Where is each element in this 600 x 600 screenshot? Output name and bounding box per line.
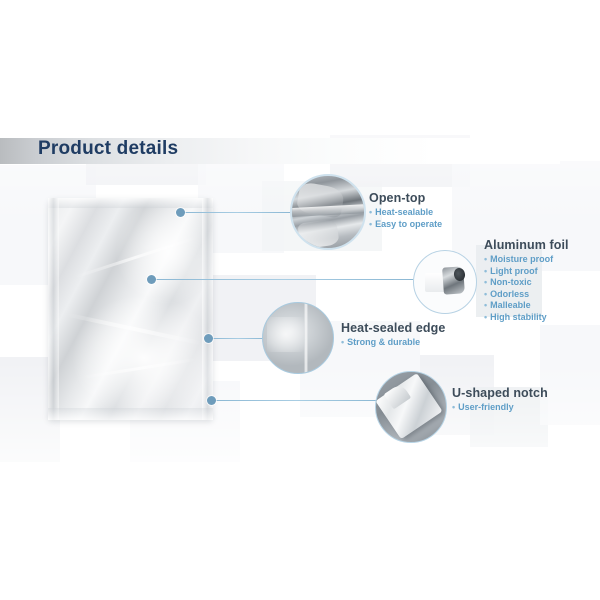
callout-features-heat-sealed-edge: Strong & durable [341,337,445,349]
callout-features-aluminum-foil: Moisture proof Light proof Non-toxic Odo… [484,254,569,323]
inset-u-shaped-notch [375,371,447,443]
inset-aluminum-foil-roll [413,250,477,314]
feature-item: Non-toxic [484,277,569,289]
feature-item: Heat-sealable [369,207,442,219]
notch-pouch-corner [376,373,444,439]
feature-item: Easy to operate [369,219,442,231]
callout-u-shaped-notch: U-shaped notch User-friendly [452,386,548,414]
callout-title-u-shaped-notch: U-shaped notch [452,386,548,400]
callout-title-heat-sealed-edge: Heat-sealed edge [341,321,445,335]
feature-item: High stability [484,312,569,324]
seal-sheen [267,317,303,352]
feature-item: Strong & durable [341,337,445,349]
pouch-left-seal [48,198,59,420]
pouch-top-seal [48,198,213,208]
callout-heat-sealed-edge: Heat-sealed edge Strong & durable [341,321,445,349]
seal-edge-line [304,302,309,374]
feature-item: Malleable [484,300,569,312]
foil-lower-fold [298,218,340,249]
feature-item: Odorless [484,289,569,301]
pouch-right-seal [202,198,213,420]
connector-dot-open-top [176,208,185,217]
connector-line-u-notch [215,400,377,401]
connector-dot-sealed-edge [204,334,213,343]
infographic-content-band: Open-top Heat-sealable Easy to operate A… [0,125,600,462]
callout-aluminum-foil: Aluminum foil Moisture proof Light proof… [484,238,569,323]
page-title: Product details [38,138,178,160]
inset-open-top-closeup [290,174,366,250]
inset-heat-sealed-edge [262,302,334,374]
connector-line-sealed-edge [212,338,264,339]
connector-line-open-top [184,212,290,213]
connector-line-aluminum-foil [155,279,413,280]
product-pouch-image [48,198,213,420]
feature-item: Moisture proof [484,254,569,266]
callout-title-aluminum-foil: Aluminum foil [484,238,569,252]
pouch-crease [74,236,197,279]
pouch-crease [81,358,196,379]
feature-item: User-friendly [452,402,548,414]
callout-open-top: Open-top Heat-sealable Easy to operate [369,191,442,230]
connector-dot-aluminum-foil [147,275,156,284]
pouch-bottom-seal [48,408,213,420]
connector-dot-u-notch [207,396,216,405]
callout-features-open-top: Heat-sealable Easy to operate [369,207,442,230]
callout-features-u-shaped-notch: User-friendly [452,402,548,414]
callout-title-open-top: Open-top [369,191,442,205]
pouch-crease [66,312,202,345]
infographic-canvas: Open-top Heat-sealable Easy to operate A… [0,0,600,600]
feature-item: Light proof [484,266,569,278]
